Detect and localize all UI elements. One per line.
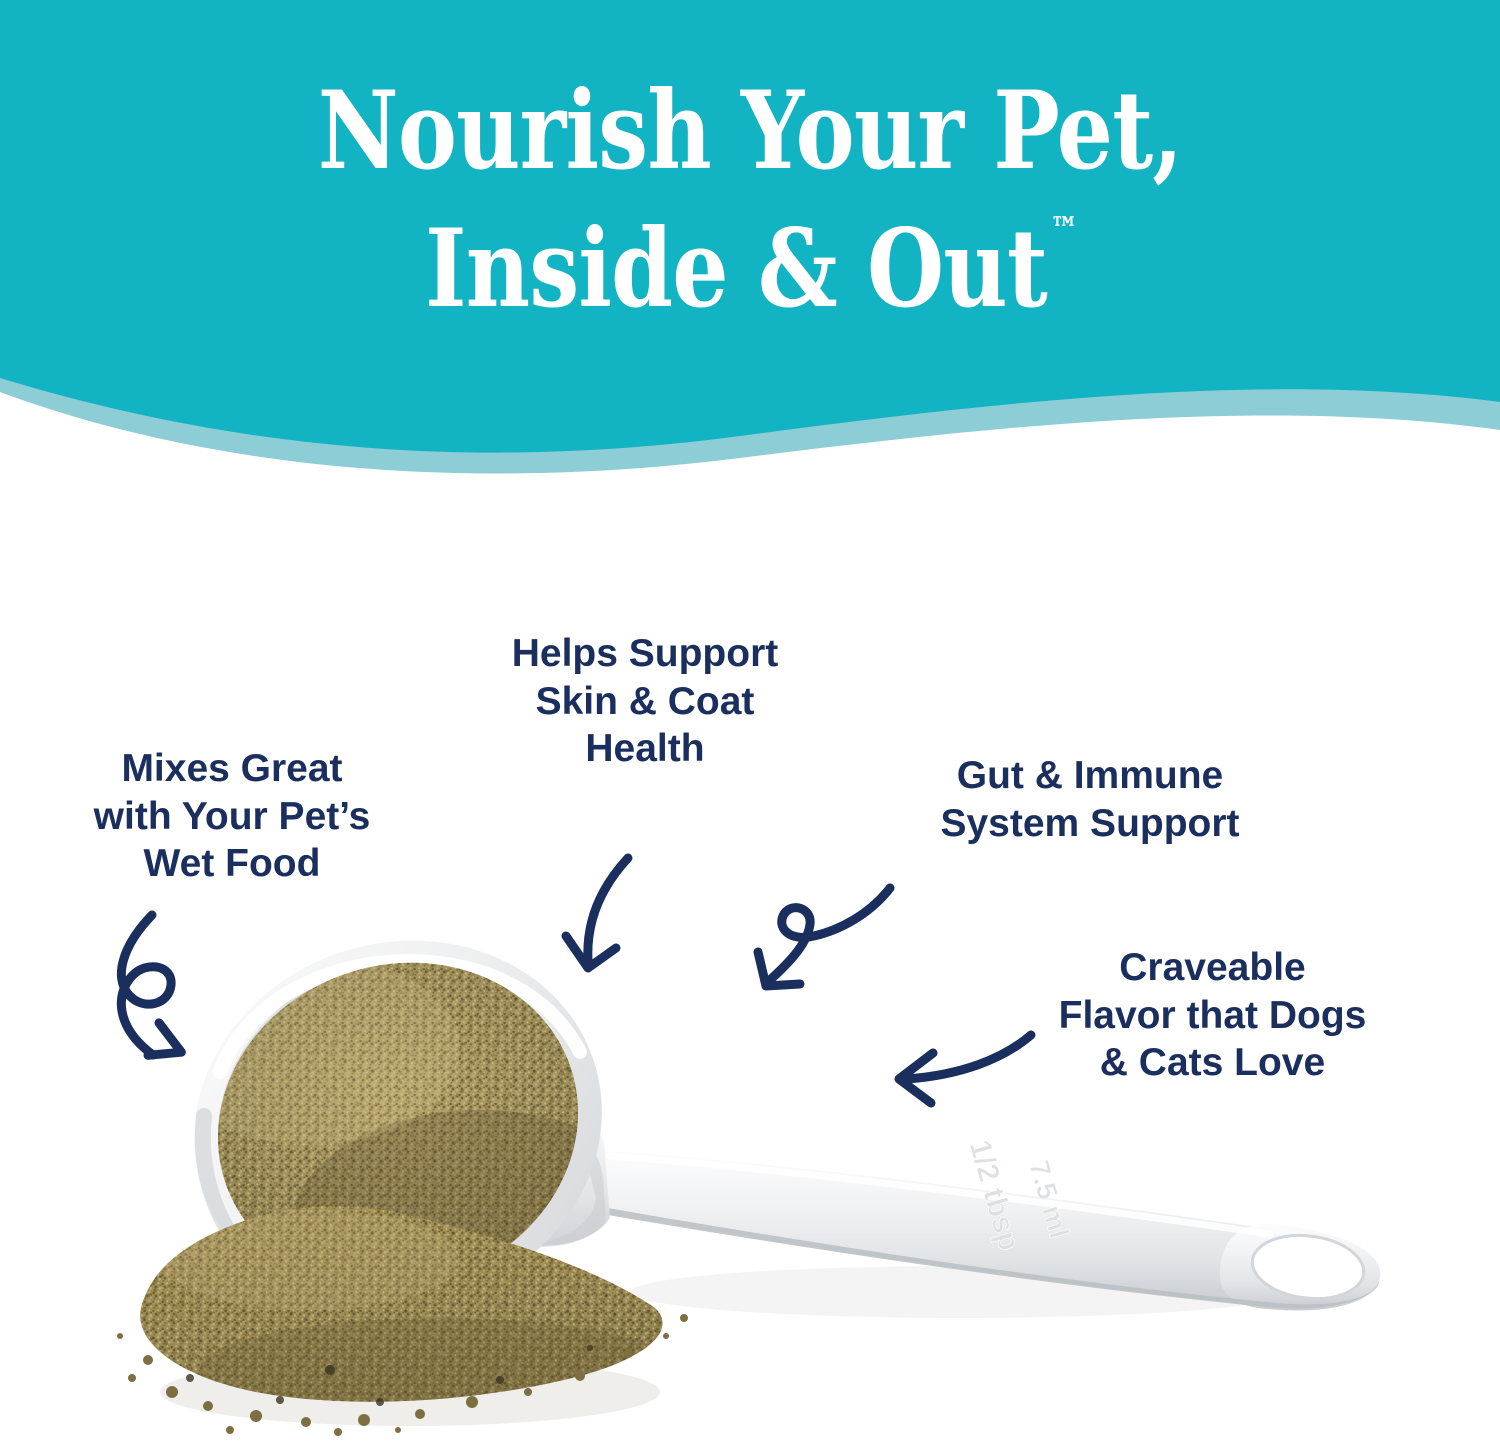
loop-arrow-down-right-icon bbox=[95, 905, 285, 1080]
curved-arrow-down-icon bbox=[550, 850, 670, 980]
headline-line-1: Nourish Your Pet, bbox=[135, 62, 1365, 200]
headline-line-2: Inside & Out™ bbox=[135, 200, 1365, 338]
trademark-symbol: ™ bbox=[1050, 210, 1078, 250]
loop-arrow-down-left-icon bbox=[740, 880, 910, 1020]
curved-arrow-left-icon bbox=[885, 1025, 1045, 1115]
callout-mixes-great: Mixes Great with Your Pet’s Wet Food bbox=[22, 745, 442, 888]
page-title: Nourish Your Pet, Inside & Out™ bbox=[135, 62, 1365, 338]
promo-graphic: Nourish Your Pet, Inside & Out™ bbox=[0, 0, 1500, 1449]
callout-skin-coat-health: Helps Support Skin & Coat Health bbox=[430, 630, 860, 773]
headline-line-2-text: Inside & Out bbox=[425, 206, 1047, 332]
header-banner: Nourish Your Pet, Inside & Out™ bbox=[0, 0, 1500, 500]
callout-gut-immune-support: Gut & Immune System Support bbox=[855, 752, 1325, 847]
